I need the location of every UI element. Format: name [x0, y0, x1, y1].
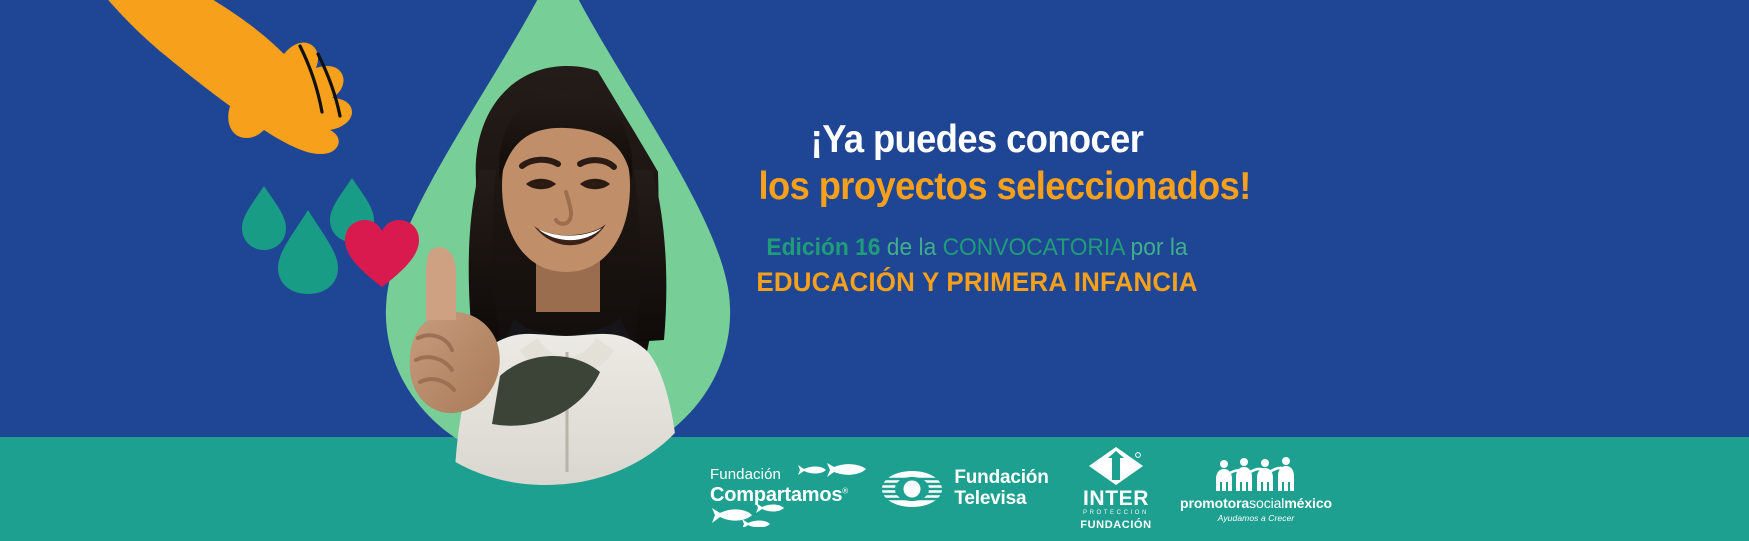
headline-line-2: los proyectos seleccionados! — [758, 166, 1195, 207]
subtitle-connector: de la — [880, 234, 942, 261]
logo-inter-fundacion: INTER PROTECCIÓN FUNDACIÓN — [1060, 437, 1172, 541]
campaign-banner: ¡Ya puedes conocer los proyectos selecci… — [0, 0, 1749, 541]
compartamos-line-2: Compartamos® — [710, 485, 848, 505]
subtitle-edition: Edición 16 — [766, 234, 880, 261]
girl-thumbs-up-photo — [368, 20, 728, 506]
inter-wordmark: INTER — [1080, 488, 1151, 509]
promotora-tagline: Ayudamos a Crecer — [1180, 513, 1332, 523]
inter-subtitle: PROTECCIÓN — [1080, 509, 1151, 518]
subtitle-line-1: Edición 16 de la CONVOCATORIA por la — [754, 235, 1201, 261]
promotora-wordmark: promotorasocialméxico — [1180, 496, 1332, 510]
subtitle-tail: por la — [1124, 234, 1187, 261]
registered-mark: ® — [842, 486, 848, 495]
promotora-word-3: méxico — [1284, 495, 1332, 511]
promotora-word-2: social — [1249, 495, 1284, 511]
inter-diamond-icon — [1088, 446, 1144, 486]
televisa-eye-icon — [881, 469, 943, 509]
logo-fundacion-televisa: Fundación Televisa — [870, 437, 1060, 541]
orange-hand-icon — [86, 0, 396, 186]
logo-promotora-social-mexico: promotorasocialméxico Ayudamos a Crecer — [1172, 437, 1340, 541]
promotora-word-1: promotora — [1180, 495, 1249, 511]
televisa-line-1: Fundación — [954, 468, 1048, 489]
partner-logos: Fundación Compartamos® — [690, 437, 1410, 541]
subtitle-convocatoria: CONVOCATORIA — [943, 234, 1125, 261]
logo-fundacion-compartamos: Fundación Compartamos® — [690, 437, 870, 541]
compartamos-line-1: Fundación — [710, 467, 848, 482]
inter-fundacion-label: FUNDACIÓN — [1080, 519, 1151, 532]
subtitle-line-2: EDUCACIÓN Y PRIMERA INFANCIA — [751, 268, 1202, 297]
people-chain-icon — [1213, 456, 1299, 492]
televisa-line-2: Televisa — [954, 489, 1048, 510]
headline-block: ¡Ya puedes conocer los proyectos selecci… — [742, 120, 1212, 298]
headline-line-1: ¡Ya puedes conocer — [758, 120, 1195, 160]
